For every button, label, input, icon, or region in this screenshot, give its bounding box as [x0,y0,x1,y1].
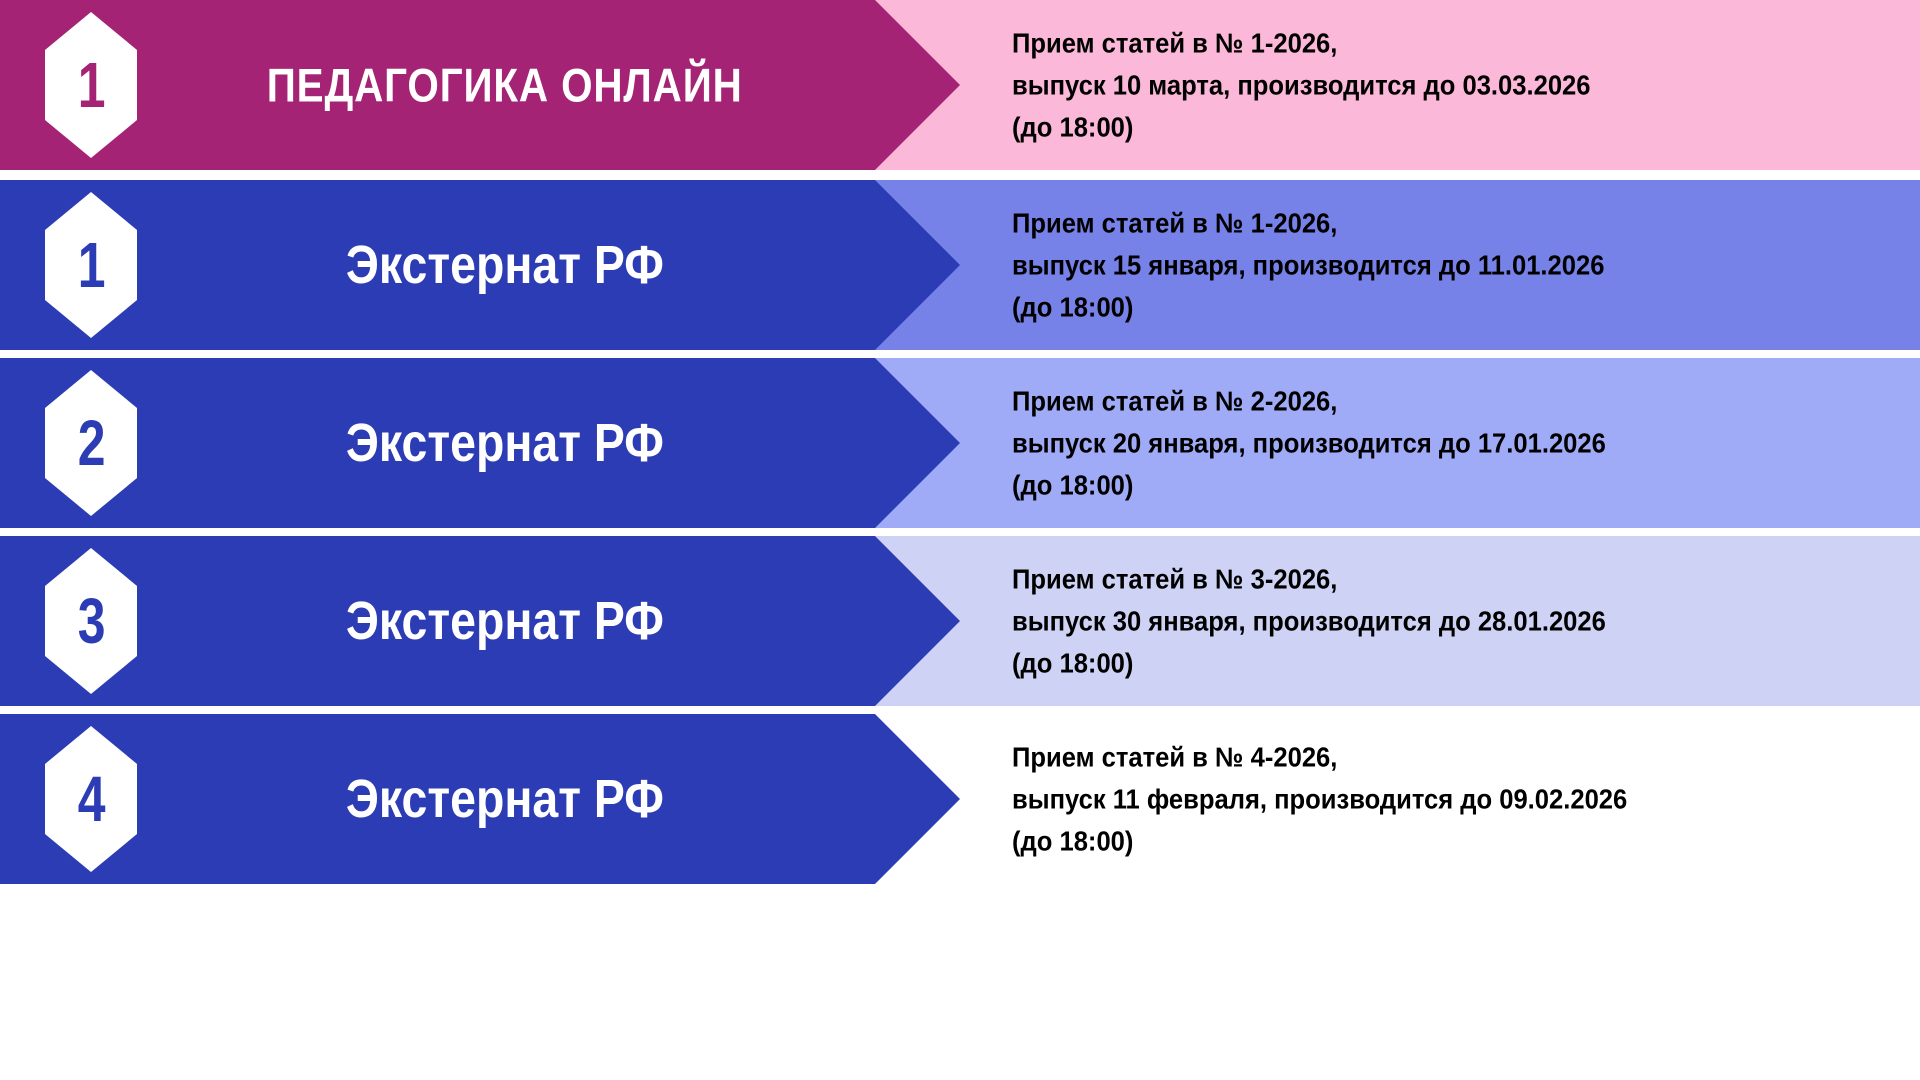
journal-title: ПЕДАГОГИКА ОНЛАЙН [160,62,850,109]
deadline-row: 3Экстернат РФПрием статей в № 3-2026, вы… [0,536,1920,706]
deadline-row: 1Экстернат РФПрием статей в № 1-2026, вы… [0,180,1920,350]
deadline-note: Прием статей в № 2-2026, выпуск 20 январ… [1012,380,1651,505]
badge-number: 3 [78,589,105,653]
deadline-note: Прием статей в № 3-2026, выпуск 30 январ… [1012,558,1651,683]
journal-title: Экстернат РФ [160,238,850,292]
journal-title: Экстернат РФ [160,594,850,648]
deadline-note: Прием статей в № 4-2026, выпуск 11 февра… [1012,736,1674,861]
deadline-note-text: Прием статей в № 1-2026, выпуск 10 марта… [1012,22,1590,147]
deadline-row: 2Экстернат РФПрием статей в № 2-2026, вы… [0,358,1920,528]
journal-title-text: Экстернат РФ [346,238,664,292]
badge-number: 4 [78,767,105,831]
journal-title-text: ПЕДАГОГИКА ОНЛАЙН [267,62,743,109]
deadline-note: Прием статей в № 1-2026, выпуск 10 марта… [1012,22,1634,147]
deadline-row: 4Экстернат РФПрием статей в № 4-2026, вы… [0,714,1920,884]
journal-title-text: Экстернат РФ [346,416,664,470]
badge-number: 1 [78,233,105,297]
journal-title-text: Экстернат РФ [346,594,664,648]
infographic-board: 1ПЕДАГОГИКА ОНЛАЙНПрием статей в № 1-202… [0,0,1920,1080]
deadline-note-text: Прием статей в № 3-2026, выпуск 30 январ… [1012,558,1606,683]
journal-title-text: Экстернат РФ [346,772,664,826]
journal-title: Экстернат РФ [160,416,850,470]
badge-number: 2 [78,411,105,475]
deadline-note-text: Прием статей в № 1-2026, выпуск 15 январ… [1012,202,1604,327]
deadline-note-text: Прием статей в № 4-2026, выпуск 11 февра… [1012,736,1627,861]
journal-title: Экстернат РФ [160,772,850,826]
deadline-note: Прием статей в № 1-2026, выпуск 15 январ… [1012,202,1649,327]
deadline-row: 1ПЕДАГОГИКА ОНЛАЙНПрием статей в № 1-202… [0,0,1920,170]
badge-number: 1 [78,53,105,117]
deadline-note-text: Прием статей в № 2-2026, выпуск 20 январ… [1012,380,1606,505]
